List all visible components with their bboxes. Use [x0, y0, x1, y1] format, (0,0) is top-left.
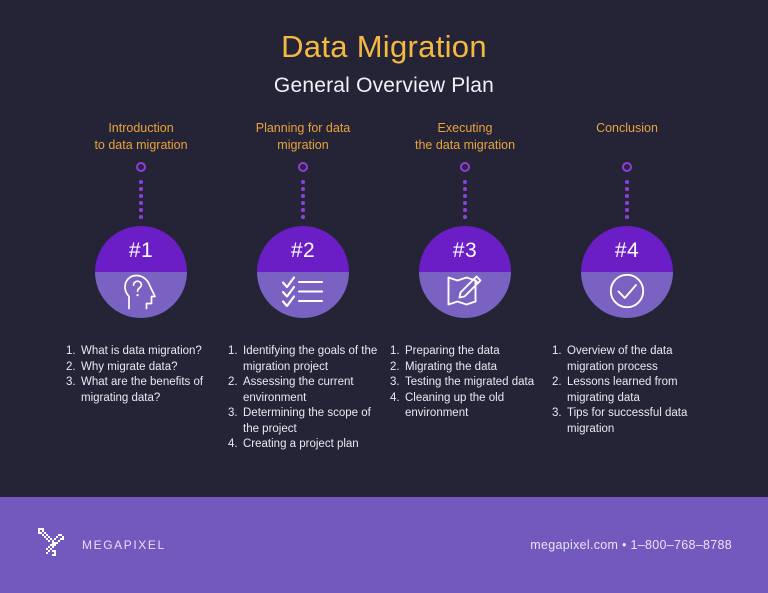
step-badge-2: #2	[257, 226, 349, 318]
pixel-sword-logo-icon	[36, 526, 70, 565]
step-badge-top-3: #3	[419, 226, 511, 272]
connector-4	[621, 162, 633, 224]
step-badge-3: #3	[419, 226, 511, 318]
step-column-1: Introduction to data migration #1	[60, 120, 222, 406]
step-badge-bottom-2	[257, 272, 349, 318]
step-heading-2: Planning for data migration	[228, 120, 378, 156]
list-item: 1. Overview of the data migration proces…	[552, 344, 702, 375]
step-badge-bottom-4	[581, 272, 673, 318]
step-heading-2-line1: Planning for data	[228, 120, 378, 137]
list-item: 1. Preparing the data	[390, 344, 540, 360]
brand-name: MEGAPIXEL	[82, 538, 166, 552]
step-number-1: #1	[129, 239, 153, 263]
list-item: 4. Cleaning up the old environment	[390, 391, 540, 422]
list-item: 2. Lessons learned from migrating data	[552, 375, 702, 406]
list-item: 3. What are the benefits of migrating da…	[66, 375, 216, 406]
edit-document-icon	[445, 272, 485, 315]
step-heading-3-line1: Executing	[390, 120, 540, 137]
steps-container: Introduction to data migration #1	[0, 120, 768, 453]
connector-ring-icon-1	[136, 162, 146, 172]
step-items-1: 1. What is data migration? 2. Why migrat…	[66, 344, 216, 406]
step-items-2: 1. Identifying the goals of the migratio…	[228, 344, 378, 453]
step-badge-4: #4	[581, 226, 673, 318]
step-badge-top-4: #4	[581, 226, 673, 272]
step-badge-top-2: #2	[257, 226, 349, 272]
connector-dots-3	[463, 172, 467, 224]
step-heading-1: Introduction to data migration	[66, 120, 216, 156]
step-badge-top-1: #1	[95, 226, 187, 272]
step-heading-3-line2: the data migration	[390, 137, 540, 154]
step-items-4: 1. Overview of the data migration proces…	[552, 344, 702, 437]
step-number-2: #2	[291, 239, 315, 263]
list-item: 3. Determining the scope of the project	[228, 406, 378, 437]
list-item: 4. Creating a project plan	[228, 437, 378, 453]
list-item: 3. Tips for successful data migration	[552, 406, 702, 437]
step-heading-4-line1: Conclusion	[552, 120, 702, 137]
connector-ring-icon-4	[622, 162, 632, 172]
step-heading-4: Conclusion	[552, 120, 702, 156]
connector-dots-4	[625, 172, 629, 224]
step-number-4: #4	[615, 239, 639, 263]
step-column-4: Conclusion #4	[546, 120, 708, 437]
list-item: 1. What is data migration?	[66, 344, 216, 360]
footer-contact: megapixel.com • 1–800–768–8788	[530, 538, 732, 552]
connector-dots-1	[139, 172, 143, 224]
page-header: Data Migration General Overview Plan	[0, 0, 768, 97]
step-heading-1-line2: to data migration	[66, 137, 216, 154]
connector-3	[459, 162, 471, 224]
list-item: 1. Identifying the goals of the migratio…	[228, 344, 378, 375]
step-badge-bottom-3	[419, 272, 511, 318]
step-column-3: Executing the data migration #3	[384, 120, 546, 422]
connector-ring-icon-2	[298, 162, 308, 172]
list-item: 3. Testing the migrated data	[390, 375, 540, 391]
step-column-2: Planning for data migration #2	[222, 120, 384, 453]
step-heading-1-line1: Introduction	[66, 120, 216, 137]
check-circle-icon	[608, 272, 646, 315]
connector-2	[297, 162, 309, 224]
checklist-icon	[281, 274, 325, 313]
page-subtitle: General Overview Plan	[0, 74, 768, 97]
step-heading-2-line2: migration	[228, 137, 378, 154]
step-badge-bottom-1	[95, 272, 187, 318]
list-item: 2. Migrating the data	[390, 360, 540, 376]
connector-1	[135, 162, 147, 224]
step-heading-3: Executing the data migration	[390, 120, 540, 156]
brand-block: MEGAPIXEL	[36, 526, 166, 565]
connector-ring-icon-3	[460, 162, 470, 172]
connector-dots-2	[301, 172, 305, 224]
step-badge-1: #1	[95, 226, 187, 318]
head-question-icon	[122, 271, 160, 316]
footer-bar: MEGAPIXEL megapixel.com • 1–800–768–8788	[0, 497, 768, 593]
page-title: Data Migration	[0, 30, 768, 64]
step-items-3: 1. Preparing the data 2. Migrating the d…	[390, 344, 540, 422]
list-item: 2. Why migrate data?	[66, 360, 216, 376]
list-item: 2. Assessing the current environment	[228, 375, 378, 406]
step-number-3: #3	[453, 239, 477, 263]
